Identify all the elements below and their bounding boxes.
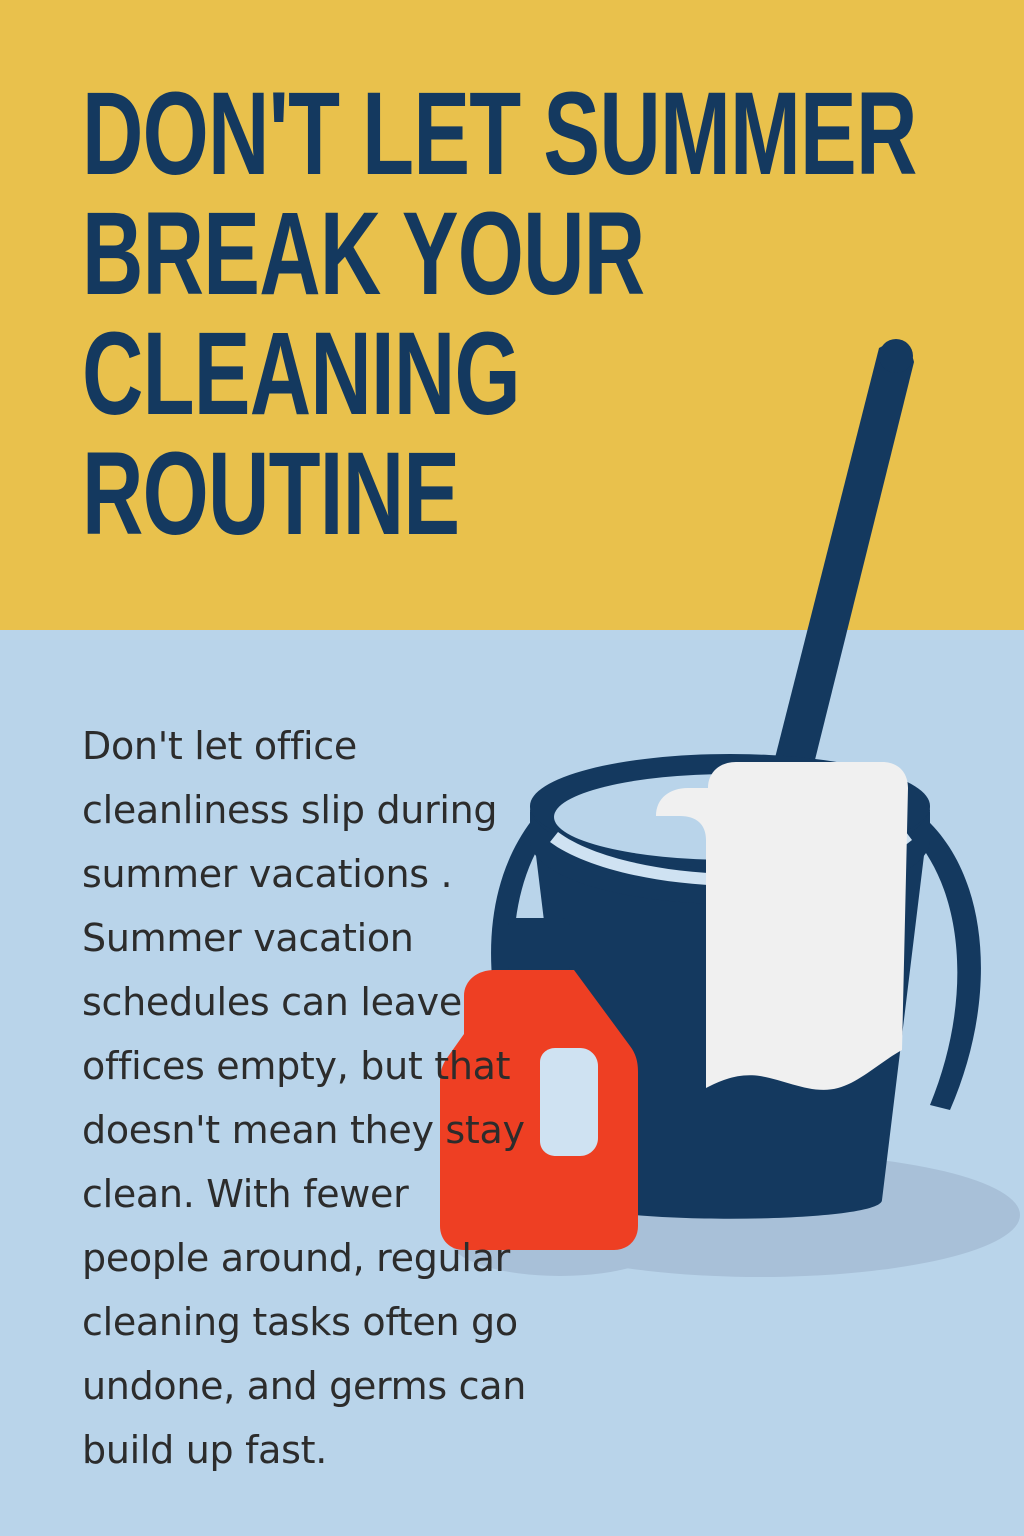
poster-canvas: DON'T LET SUMMER BREAK YOUR CLEANING ROU… [0, 0, 1024, 1536]
page-title: DON'T LET SUMMER BREAK YOUR CLEANING ROU… [82, 74, 716, 554]
bottle-handle-cutout [540, 1048, 598, 1156]
mop-handle-group [760, 339, 914, 820]
headline-line-2: BREAK YOUR [82, 194, 716, 314]
headline-line-3: CLEANING [82, 314, 716, 434]
body-paragraph: Don't let office cleanliness slip during… [82, 714, 532, 1482]
mop-handle [760, 344, 914, 820]
mop-handle-cap [879, 339, 913, 373]
headline-line-4: ROUTINE [82, 434, 716, 554]
headline-line-1: DON'T LET SUMMER [82, 74, 716, 194]
